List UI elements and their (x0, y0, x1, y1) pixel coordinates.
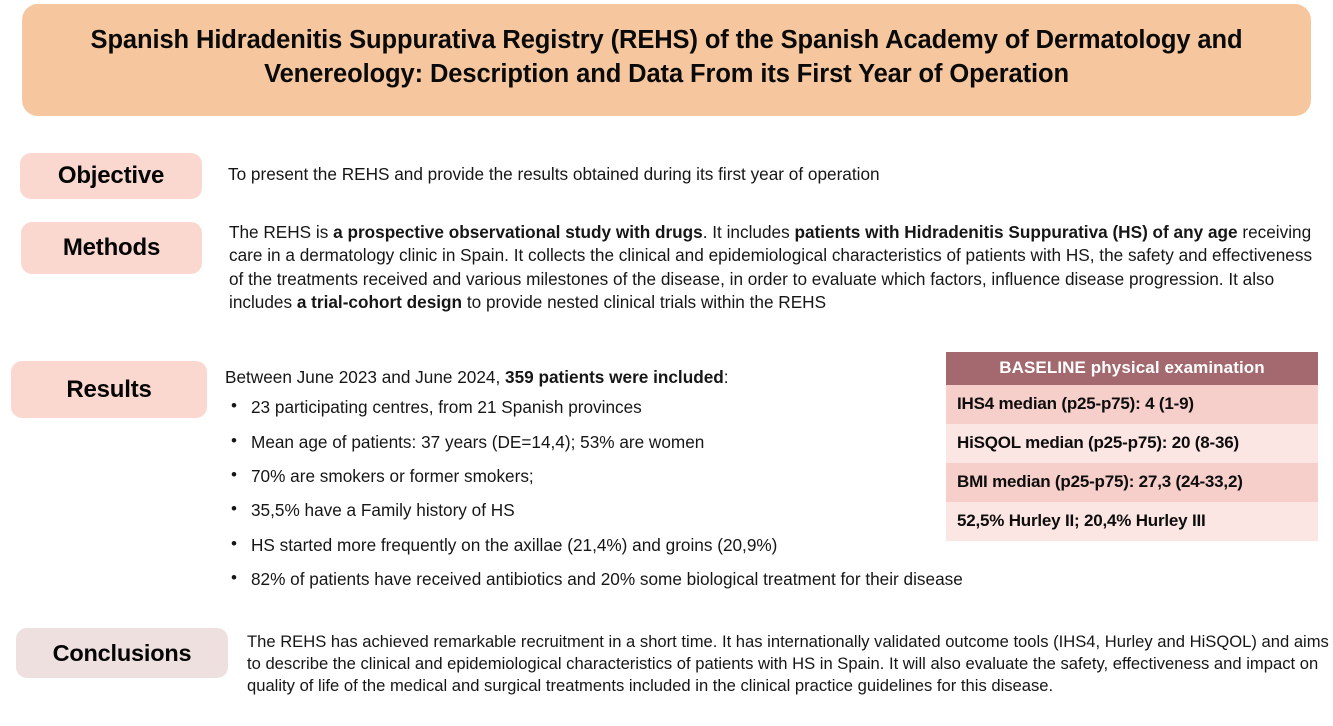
table-row: HiSQOL median (p25-p75): 20 (8-36) (946, 424, 1318, 463)
title-banner: Spanish Hidradenitis Suppurativa Registr… (22, 4, 1311, 116)
page-title: Spanish Hidradenitis Suppurativa Registr… (50, 24, 1283, 91)
list-item: 70% are smokers or former smokers; (225, 465, 965, 487)
visual-abstract-page: Spanish Hidradenitis Suppurativa Registr… (0, 0, 1333, 726)
list-item: 23 participating centres, from 21 Spanis… (225, 396, 965, 418)
section-conclusions: Conclusions The REHS has achieved remark… (0, 628, 1333, 698)
table-header: BASELINE physical examination (946, 352, 1318, 385)
results-bullet-list: 23 participating centres, from 21 Spanis… (225, 396, 965, 590)
section-methods: Methods The REHS is a prospective observ… (0, 222, 1320, 315)
conclusions-text: The REHS has achieved remarkable recruit… (247, 631, 1332, 698)
table-row: BMI median (p25-p75): 27,3 (24-33,2) (946, 463, 1318, 502)
table-row: 52,5% Hurley II; 20,4% Hurley III (946, 502, 1318, 541)
baseline-physical-examination-table: BASELINE physical examination IHS4 media… (946, 352, 1318, 541)
methods-text: The REHS is a prospective observational … (229, 221, 1319, 315)
results-body: Between June 2023 and June 2024, 359 pat… (225, 366, 965, 603)
section-label-results: Results (11, 361, 207, 418)
results-lead: Between June 2023 and June 2024, 359 pat… (225, 366, 965, 388)
list-item: 82% of patients have received antibiotic… (225, 568, 965, 590)
table-row: IHS4 median (p25-p75): 4 (1-9) (946, 385, 1318, 424)
section-label-conclusions: Conclusions (16, 628, 228, 678)
table-body: IHS4 median (p25-p75): 4 (1-9)HiSQOL med… (946, 385, 1318, 541)
list-item: 35,5% have a Family history of HS (225, 499, 965, 521)
list-item: Mean age of patients: 37 years (DE=14,4)… (225, 431, 965, 453)
section-label-objective: Objective (20, 153, 202, 199)
section-objective: Objective To present the REHS and provid… (0, 153, 1320, 199)
list-item: HS started more frequently on the axilla… (225, 534, 965, 556)
objective-text: To present the REHS and provide the resu… (228, 163, 1288, 186)
section-label-methods: Methods (21, 222, 202, 274)
